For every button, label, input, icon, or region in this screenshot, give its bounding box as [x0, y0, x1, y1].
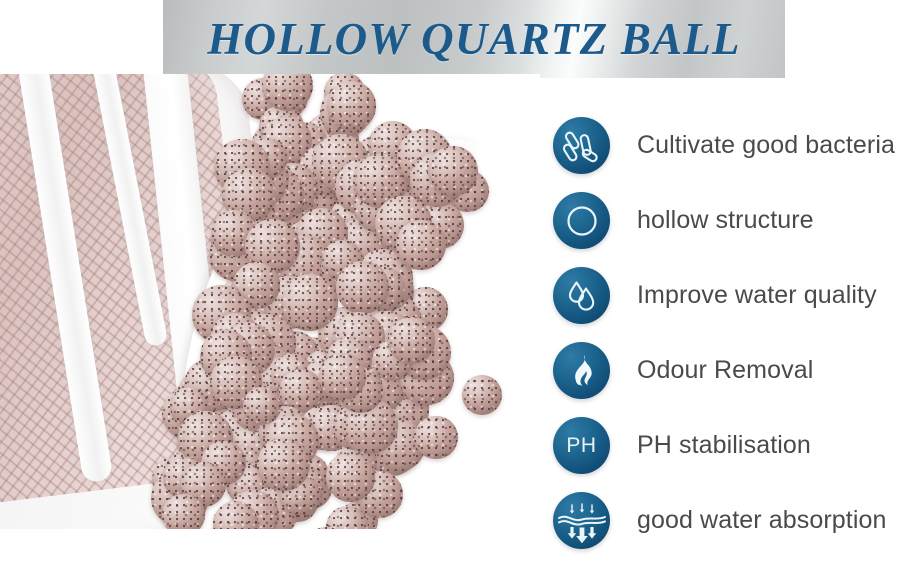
feature-item-hollow-structure[interactable]: hollow structure	[553, 183, 922, 258]
quartz-ball	[388, 317, 435, 364]
water-droplets-icon	[553, 267, 610, 324]
quartz-ball	[281, 274, 338, 331]
page-title: HOLLOW QUARTZ BALL	[163, 0, 785, 78]
feature-item-improve-water-quality[interactable]: Improve water quality	[553, 258, 922, 333]
product-photo	[0, 74, 540, 573]
quartz-ball	[462, 375, 502, 415]
quartz-ball	[319, 353, 366, 400]
feature-item-cultivate-good-bacteria[interactable]: Cultivate good bacteria	[553, 108, 922, 183]
quartz-ball	[326, 452, 375, 501]
ph-icon-label: PH	[566, 435, 596, 456]
photo-baseline	[0, 529, 540, 573]
quartz-ball	[327, 81, 377, 131]
flame-icon	[553, 342, 610, 399]
title-banner: HOLLOW QUARTZ BALL	[163, 0, 785, 78]
hollow-ring-icon	[553, 192, 610, 249]
feature-item-good-water-absorption[interactable]: good water absorption	[553, 483, 922, 558]
quartz-ball	[428, 146, 478, 196]
ph-icon: PH	[553, 417, 610, 474]
quartz-ball	[336, 261, 388, 313]
feature-label: hollow structure	[637, 206, 814, 235]
bacteria-icon	[553, 117, 610, 174]
product-photo-scene	[0, 74, 540, 573]
quartz-ball	[396, 220, 446, 270]
feature-item-ph-stabilisation[interactable]: PH PH stabilisation	[553, 408, 922, 483]
feature-label: Improve water quality	[637, 281, 877, 310]
product-infographic: HOLLOW QUARTZ BALL Culti	[0, 0, 922, 573]
feature-list: Cultivate good bacteria hollow structure…	[553, 108, 922, 558]
water-absorption-icon	[553, 492, 610, 549]
quartz-ball	[414, 416, 458, 460]
feature-label: PH stabilisation	[637, 431, 811, 460]
feature-label: Odour Removal	[637, 356, 813, 385]
feature-item-odour-removal[interactable]: Odour Removal	[553, 333, 922, 408]
feature-label: good water absorption	[637, 506, 887, 535]
feature-label: Cultivate good bacteria	[637, 131, 895, 160]
